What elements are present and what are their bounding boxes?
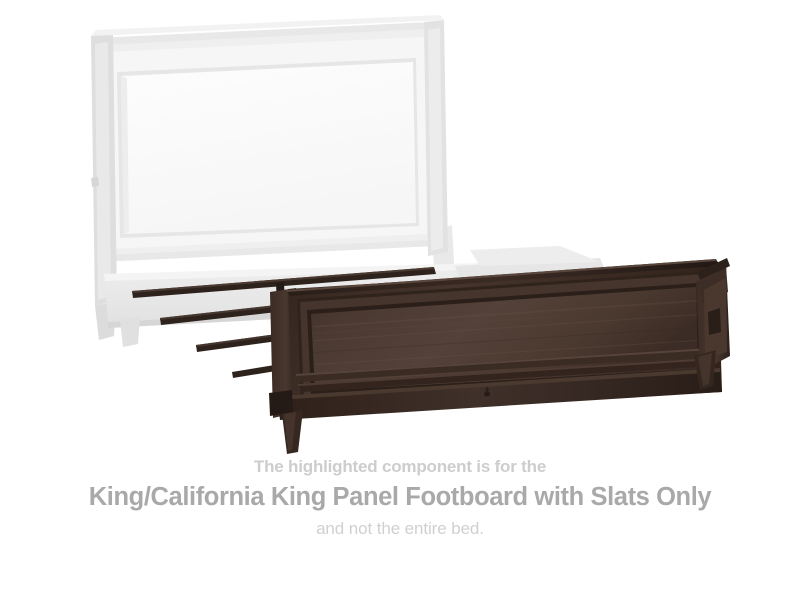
caption-line-1: The highlighted component is for the [0,455,800,479]
ghost-support-leg [120,316,140,347]
footboard-hardware-stem [485,387,488,393]
footboard-post-right-cleat [708,308,721,335]
bed-product-illustration [0,0,800,460]
ghost-post-left-notch [91,177,99,187]
product-image-stage: The highlighted component is for the Kin… [0,0,800,600]
bed-illustration-svg [0,0,800,460]
caption-line-3: and not the entire bed. [0,516,800,542]
ghost-headboard-panel [121,62,416,234]
caption-line-2: King/California King Panel Footboard wit… [0,479,800,516]
caption-block: The highlighted component is for the Kin… [0,455,800,542]
footboard-post-left-cap [269,390,293,416]
